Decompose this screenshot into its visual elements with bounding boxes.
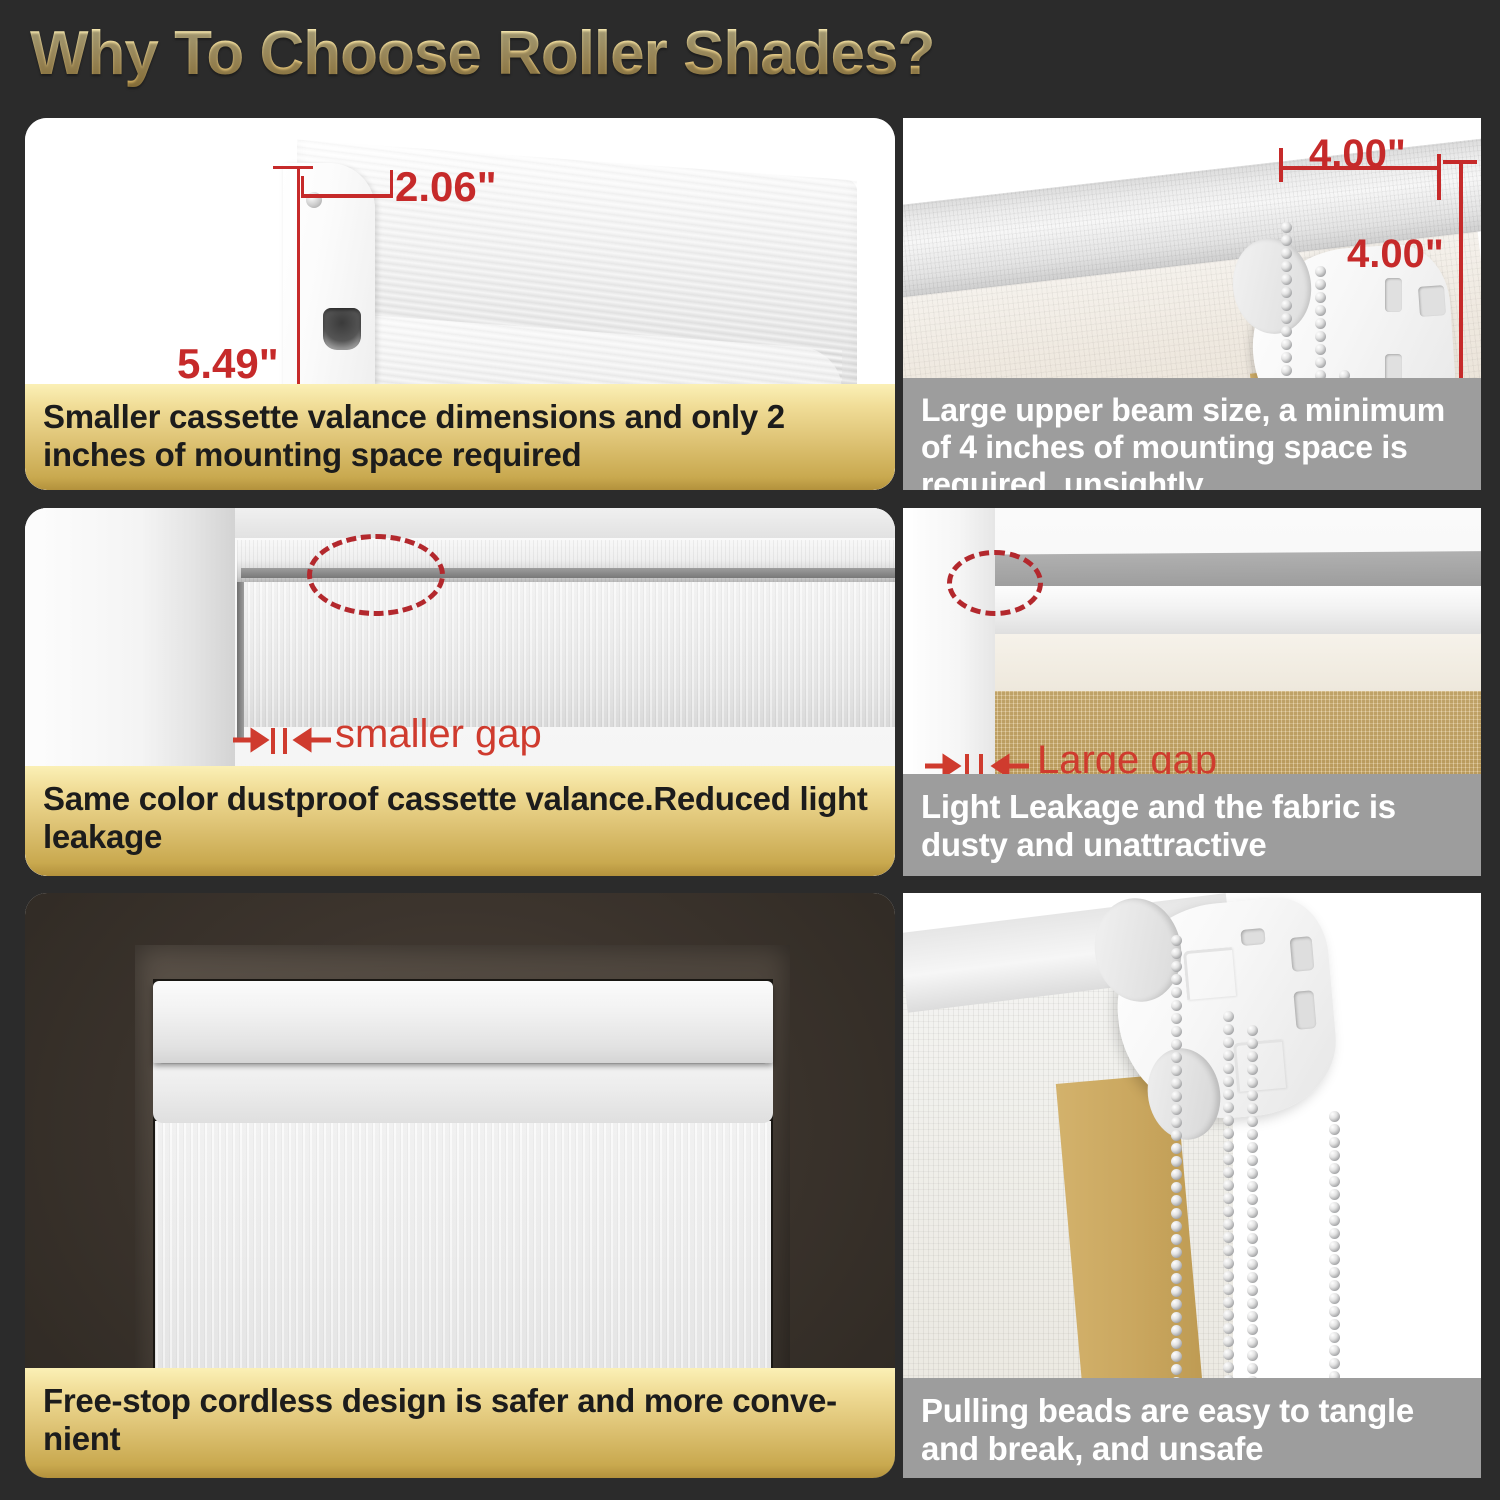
panel-pulling-beads: Pulling beads are easy to tangle and bre…	[903, 893, 1481, 1478]
dimension-label-width: 2.06"	[395, 163, 497, 211]
infographic-root: Why To Choose Roller Shades? 2.06" 5.49"…	[0, 0, 1500, 1500]
bead-chain-icon	[1247, 1025, 1258, 1402]
highlight-ellipse-gap	[947, 550, 1043, 616]
panel-cordless-design: Free-stop cordless design is safer and m…	[25, 893, 895, 1478]
panel-caption-con-3: Pulling beads are easy to tangle and bre…	[903, 1378, 1481, 1478]
bead-chain-icon	[1171, 935, 1182, 1403]
panel-large-upper-beam: 4.00" 4.00" Large upper beam size, a min…	[903, 118, 1481, 490]
bead-chain-icon	[1329, 1111, 1340, 1423]
cord-slot-icon	[323, 308, 361, 350]
panel-caption-pro-2: Same color dustproof cassette valance.Re…	[25, 766, 895, 876]
page-title: Why To Choose Roller Shades?	[30, 18, 934, 89]
panel-smaller-gap: smaller gap Same color dustproof cassett…	[25, 508, 895, 876]
highlight-ellipse-gap	[307, 534, 445, 616]
dimension-label-beam-width: 4.00"	[1309, 132, 1406, 177]
panel-large-gap: Large gap Light Leakage and the fabric i…	[903, 508, 1481, 876]
panel-caption-pro-3: Free-stop cordless design is safer and m…	[25, 1368, 895, 1478]
panel-caption-con-1: Large upper beam size, a minimum of 4 in…	[903, 378, 1481, 490]
panel-caption-con-2: Light Leakage and the fabric is dusty an…	[903, 774, 1481, 876]
dimension-label-beam-height: 4.00"	[1347, 232, 1444, 277]
dimension-label-height: 5.49"	[177, 340, 279, 388]
panel-cassette-dimensions: 2.06" 5.49" Smaller cassette valance dim…	[25, 118, 895, 490]
gap-callout-label: smaller gap	[335, 712, 542, 757]
panel-caption-pro-1: Smaller cassette valance dimensions and …	[25, 384, 895, 490]
bead-chain-icon	[1223, 1011, 1234, 1414]
